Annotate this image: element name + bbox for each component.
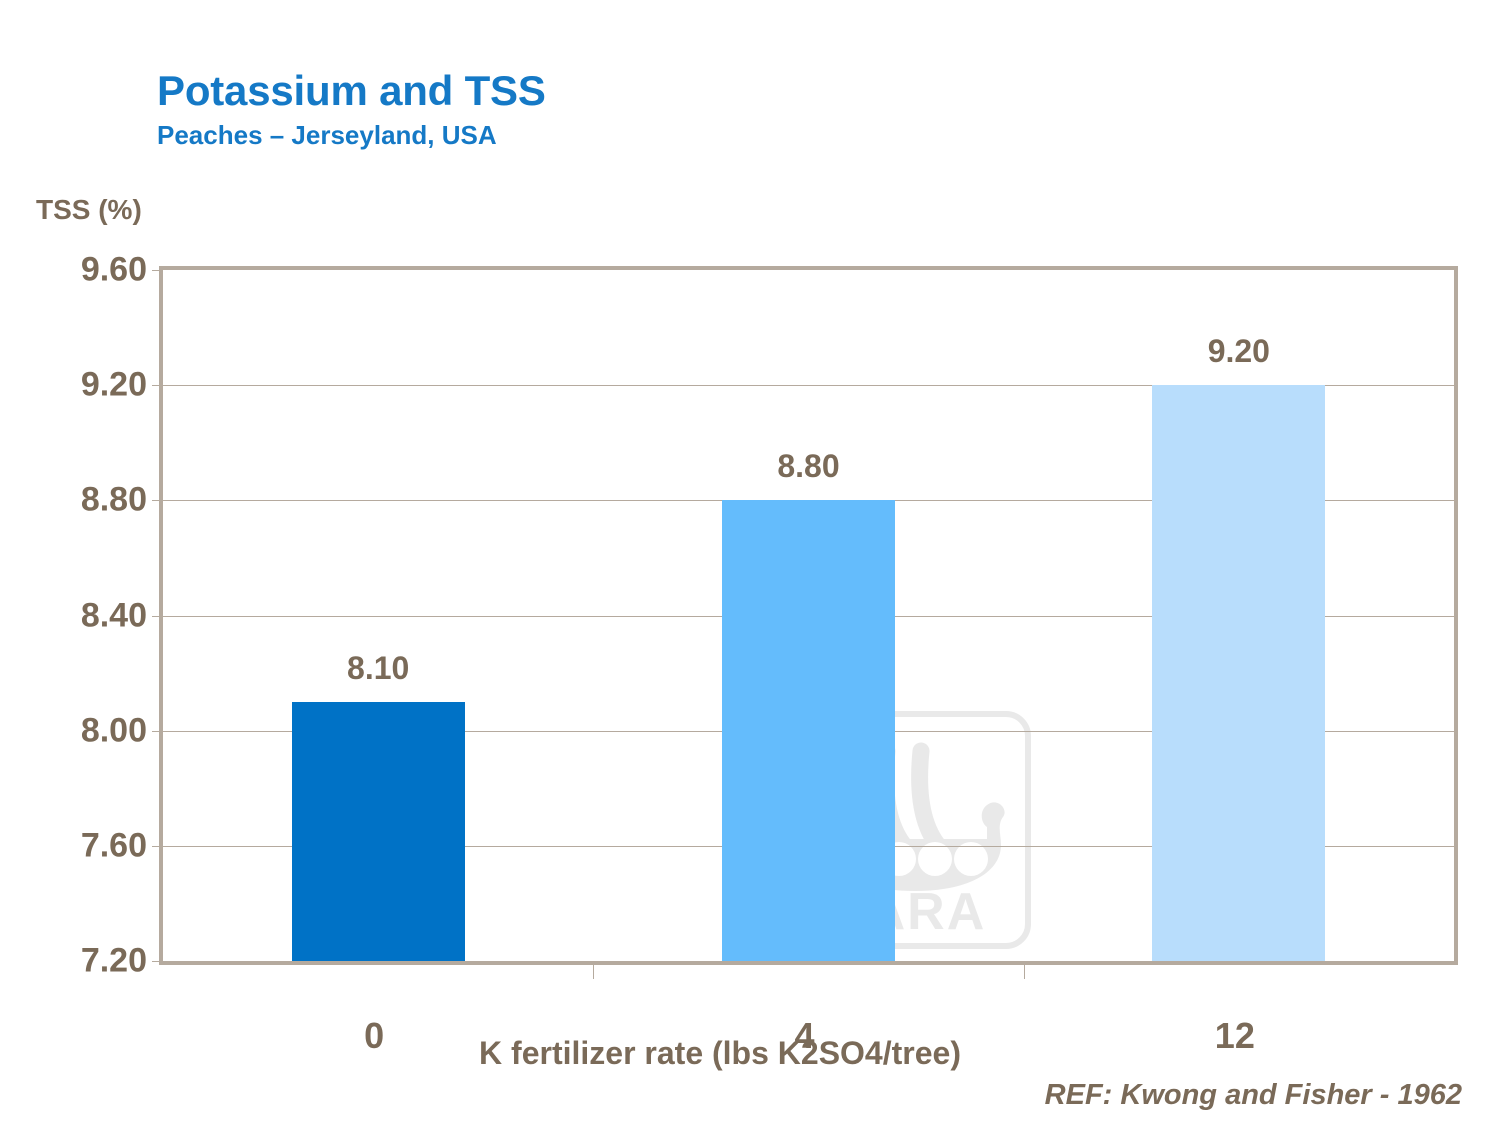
reference-note: REF: Kwong and Fisher - 1962	[1045, 1079, 1462, 1112]
page-subtitle: Peaches – Jerseyland, USA	[157, 118, 546, 152]
bar[interactable]	[1152, 385, 1325, 961]
y-axis-tick	[152, 731, 163, 732]
chart-plot-inner: YARA 7.207.608.008.408.809.209.60 8.108.…	[163, 270, 1454, 961]
x-axis-title: K fertilizer rate (lbs K2SO4/tree)	[0, 1035, 1500, 1072]
bar[interactable]	[722, 500, 895, 961]
y-axis-tick	[152, 270, 163, 271]
y-axis-tick-label: 8.00	[81, 711, 147, 750]
y-axis-tick-label: 9.20	[81, 366, 147, 405]
y-axis-tick-label: 8.40	[81, 596, 147, 635]
y-axis-tick-label: 7.20	[81, 942, 147, 981]
y-axis-tick	[152, 616, 163, 617]
y-axis-tick	[152, 961, 163, 962]
bar-value-label: 9.20	[1208, 333, 1270, 370]
title-block: Potassium and TSS Peaches – Jerseyland, …	[157, 66, 546, 152]
x-axis-title-text: K fertilizer rate (lbs K2SO4/tree)	[479, 1035, 1021, 1072]
x-axis-tick	[593, 961, 594, 979]
y-axis-tick	[152, 385, 163, 386]
y-axis-title: TSS (%)	[36, 194, 142, 226]
y-axis-tick-label: 9.60	[81, 251, 147, 290]
x-axis-tick	[1024, 961, 1025, 979]
y-axis-tick-label: 8.80	[81, 481, 147, 520]
bar-value-label: 8.10	[347, 650, 409, 687]
y-axis-tick	[152, 500, 163, 501]
y-axis-tick-label: 7.60	[81, 826, 147, 865]
y-axis-tick	[152, 846, 163, 847]
bar[interactable]	[292, 702, 465, 961]
chart-plot-area: YARA 7.207.608.008.408.809.209.60 8.108.…	[159, 266, 1458, 965]
page-title: Potassium and TSS	[157, 66, 546, 116]
bar-value-label: 8.80	[777, 448, 839, 485]
